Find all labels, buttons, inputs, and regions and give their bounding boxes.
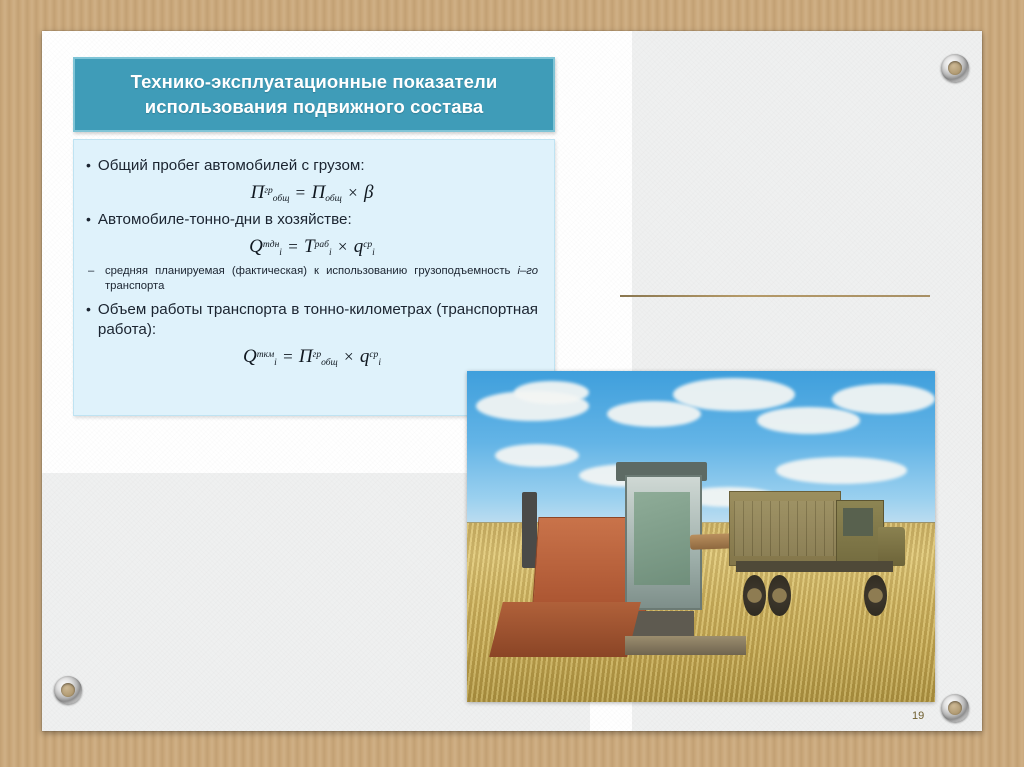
formula-vehicle-ton-days: Qтднi = Tрабi × qсрi bbox=[86, 236, 538, 258]
note-line: – средняя планируемая (фактическая) к ис… bbox=[88, 264, 538, 294]
bullet-marker-icon: • bbox=[86, 300, 91, 318]
truck-chassis bbox=[736, 561, 892, 572]
formula-3-rhs1-sub: общ bbox=[321, 358, 338, 368]
grommet-icon-bottom-left bbox=[54, 676, 82, 704]
title-line-1: Технико-эксплуатационные показатели bbox=[131, 71, 498, 92]
truck-wheel bbox=[768, 575, 791, 617]
title-line-2: использования подвижного состава bbox=[145, 96, 484, 117]
formula-1-times: × bbox=[346, 183, 360, 202]
formula-3-times: × bbox=[342, 347, 356, 366]
formula-2-equals: = bbox=[286, 237, 300, 256]
formula-total-loaded-mileage: Пгробщ = Побщ × β bbox=[86, 182, 538, 204]
formula-2-times: × bbox=[336, 237, 350, 256]
formula-1-rhs1-sub: общ bbox=[325, 194, 342, 204]
formula-2-lhs-sub: i bbox=[279, 248, 282, 258]
formula-3-rhs2-base: q bbox=[360, 346, 370, 367]
formula-2-lhs-base: Q bbox=[249, 236, 263, 257]
formula-transport-work: Qткмi = Пгробщ × qсрi bbox=[86, 346, 538, 368]
combine-reel bbox=[625, 636, 746, 655]
formula-3-rhs1-sup: гр bbox=[313, 350, 321, 360]
page-title: Технико-эксплуатационные показатели испо… bbox=[131, 70, 498, 119]
horizontal-divider-rule bbox=[620, 295, 930, 297]
bullet-item-2: • Автомобиле-тонно-дни в хозяйстве: bbox=[86, 210, 538, 230]
formula-2-rhs2-base: q bbox=[354, 236, 364, 257]
formula-3-rhs2-sub: i bbox=[378, 358, 381, 368]
bullet-text-1: Общий пробег автомобилей с грузом: bbox=[98, 156, 538, 176]
photo-cloud bbox=[832, 384, 935, 414]
formula-2-rhs1-base: T bbox=[304, 236, 315, 257]
harvest-photo bbox=[467, 371, 935, 702]
photo-cloud bbox=[757, 407, 860, 433]
combine-exhaust-stack bbox=[522, 492, 537, 568]
formula-2-rhs2-sub: i bbox=[372, 248, 375, 258]
formula-2-rhs1-sup: раб bbox=[315, 240, 329, 250]
combine-cab-window bbox=[634, 492, 690, 585]
formula-1-lhs-sup: гр bbox=[264, 186, 272, 196]
formula-3-lhs-sub: i bbox=[274, 358, 277, 368]
note-text-part1: средняя планируемая (фактическая) к испо… bbox=[105, 265, 517, 277]
photo-cloud bbox=[673, 378, 795, 411]
bullet-marker-icon: • bbox=[86, 210, 91, 228]
formula-2-rhs2-sup: ср bbox=[363, 240, 372, 250]
note-text-part2: транспорта bbox=[105, 280, 164, 292]
bullet-text-2: Автомобиле-тонно-дни в хозяйстве: bbox=[98, 210, 538, 230]
note-text-italic: i–го bbox=[517, 265, 538, 277]
grommet-icon-top-right bbox=[941, 54, 969, 82]
photo-combine-harvester bbox=[504, 454, 719, 666]
truck-wheel bbox=[743, 575, 766, 617]
slide-title-box: Технико-эксплуатационные показатели испо… bbox=[73, 57, 555, 132]
formula-1-rhs2-base: β bbox=[364, 182, 373, 203]
formula-2-lhs-sup: тдн bbox=[263, 240, 279, 250]
formula-1-lhs-base: П bbox=[251, 182, 265, 203]
bullet-item-3: • Объем работы транспорта в тонно-киломе… bbox=[86, 300, 538, 340]
bullet-marker-icon: • bbox=[86, 156, 91, 174]
formula-3-lhs-sup: ткм bbox=[257, 350, 274, 360]
formula-3-rhs2-sup: ср bbox=[369, 350, 378, 360]
formula-1-rhs1-base: П bbox=[312, 182, 326, 203]
bullet-text-3: Объем работы транспорта в тонно-километр… bbox=[98, 300, 538, 340]
formula-3-lhs-base: Q bbox=[243, 346, 257, 367]
formula-3-rhs1-base: П bbox=[299, 346, 313, 367]
presentation-background: 19 Технико-эксплуатационные показатели и… bbox=[0, 0, 1024, 767]
slide-number: 19 bbox=[912, 710, 924, 722]
dash-marker-icon: – bbox=[88, 264, 95, 279]
truck-cargo-bed bbox=[729, 491, 841, 565]
truck-window bbox=[843, 508, 873, 536]
note-text: средняя планируемая (фактическая) к испо… bbox=[105, 264, 538, 294]
formula-1-equals: = bbox=[294, 183, 308, 202]
bullet-item-1: • Общий пробег автомобилей с грузом: bbox=[86, 156, 538, 176]
grommet-icon-bottom-right bbox=[941, 694, 969, 722]
formula-3-equals: = bbox=[281, 347, 295, 366]
combine-header bbox=[489, 602, 640, 657]
formula-1-lhs-sub: общ bbox=[273, 194, 290, 204]
photo-cloud bbox=[514, 381, 589, 404]
formula-2-rhs1-sub: i bbox=[329, 248, 332, 258]
photo-grain-truck bbox=[729, 480, 907, 619]
truck-wheel bbox=[864, 575, 887, 617]
